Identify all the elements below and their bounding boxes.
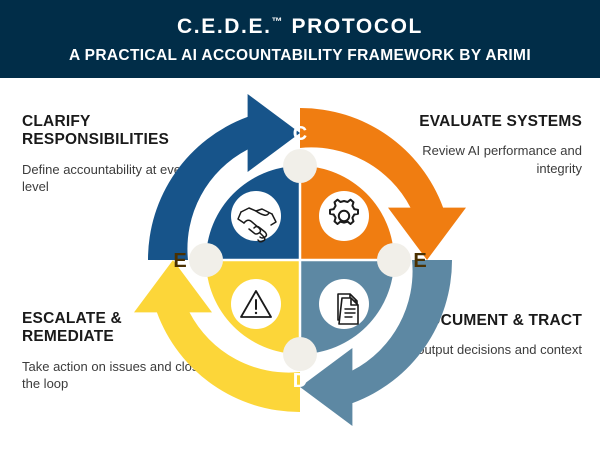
trademark-symbol: ™ xyxy=(272,16,283,28)
cede-cycle-diagram: C E D E xyxy=(128,88,472,432)
infographic-root: C.E.D.E.™PROTOCOL A PRACTICAL AI ACCOUNT… xyxy=(0,0,600,450)
ring-label-right: E xyxy=(413,250,426,272)
icon-circle-evaluate xyxy=(319,191,369,241)
page-subtitle: A PRACTICAL AI ACCOUNTABILITY FRAMEWORK … xyxy=(69,47,531,65)
inner-disc xyxy=(204,164,396,356)
header-banner: C.E.D.E.™PROTOCOL A PRACTICAL AI ACCOUNT… xyxy=(0,0,600,78)
notch-top xyxy=(283,149,317,183)
title-main: C.E.D.E. xyxy=(177,15,271,38)
notch-left xyxy=(189,243,223,277)
document-icon xyxy=(338,294,358,324)
ring-label-top: C xyxy=(293,123,307,145)
ring-label-left: E xyxy=(173,250,186,272)
title-suffix: PROTOCOL xyxy=(292,15,423,38)
page-title: C.E.D.E.™PROTOCOL xyxy=(177,15,423,39)
ring-label-bottom: D xyxy=(293,370,307,392)
notch-bottom xyxy=(283,337,317,371)
notch-right xyxy=(377,243,411,277)
